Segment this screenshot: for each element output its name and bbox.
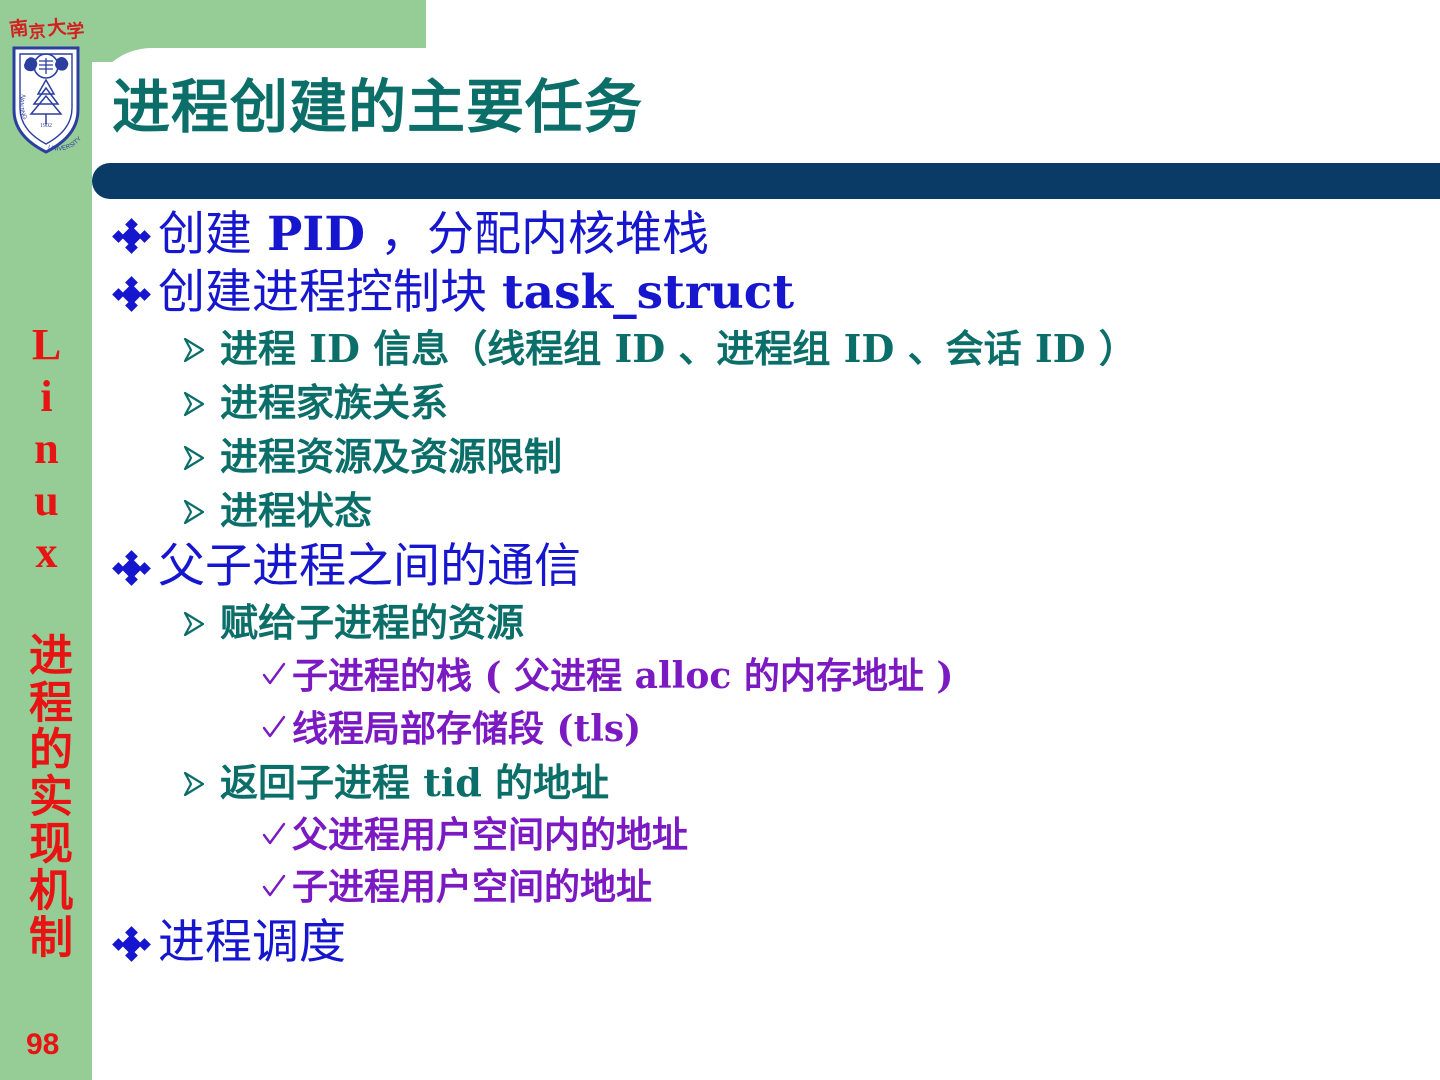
diamond-bullet-marker: [112, 914, 158, 972]
bullet-item-level-1: 父子进程之间的通信: [100, 538, 1430, 596]
bullet-item-level-3: 子进程用户空间的地址: [100, 862, 1430, 914]
arrow-bullet-marker: [180, 376, 220, 430]
diamond-cluster-icon: [114, 220, 148, 252]
diamond-cluster-icon: [114, 928, 148, 960]
diamond-bullet-marker: [112, 538, 158, 596]
page-number: 98: [26, 1028, 59, 1062]
bullet-item-level-2: 返回子进程 tid 的地址: [100, 756, 1430, 810]
diamond-bullet-marker: [112, 206, 158, 264]
slide-canvas: 南 京 大 学 1902 NANJING: [0, 0, 1440, 1080]
navy-divider-bar: [92, 163, 1440, 199]
arrow-bullet-marker: [180, 430, 220, 484]
diamond-cluster-icon: [114, 552, 148, 584]
bullet-item-level-3: 子进程的栈 ( 父进程 alloc 的内存地址 ): [100, 650, 1430, 703]
svg-text:大: 大: [46, 15, 67, 40]
bullet-list: 创建 PID ，分配内核堆栈创建进程控制块 task_struct进程 ID 信…: [100, 206, 1430, 972]
bullet-item-level-3: 线程局部存储段 (tls): [100, 703, 1430, 756]
bullet-item-level-1: 创建进程控制块 task_struct: [100, 264, 1430, 322]
arrow-bullet-marker: [180, 596, 220, 650]
arrow-bullet-marker: [180, 484, 220, 538]
svg-text:南: 南: [8, 17, 29, 41]
bullet-item-level-3: 父进程用户空间内的地址: [100, 810, 1430, 862]
bullet-item-level-1: 创建 PID ，分配内核堆栈: [100, 206, 1430, 264]
bullet-text: 进程资源及资源限制: [220, 430, 562, 484]
bullet-item-level-2: 进程状态: [100, 484, 1430, 538]
bullet-text: 进程调度: [158, 914, 346, 972]
arrow-bullet-marker: [180, 322, 220, 376]
bullet-item-level-2: 进程资源及资源限制: [100, 430, 1430, 484]
check-bullet-marker: [260, 650, 292, 702]
bullet-text: 创建进程控制块 task_struct: [158, 264, 794, 322]
bullet-text: 进程状态: [220, 484, 372, 538]
diamond-cluster-icon: [114, 278, 148, 310]
svg-text:学: 学: [66, 19, 86, 41]
check-bullet-marker: [260, 862, 292, 914]
bullet-text: 进程 ID 信息（线程组 ID 、进程组 ID 、会话 ID ）: [220, 322, 1137, 376]
check-bullet-marker: [260, 703, 292, 755]
bullet-item-level-2: 进程家族关系: [100, 376, 1430, 430]
bullet-text: 子进程用户空间的地址: [292, 862, 652, 914]
svg-text:京: 京: [28, 21, 46, 42]
bullet-text: 进程家族关系: [220, 376, 448, 430]
bullet-text: 线程局部存储段 (tls): [292, 703, 641, 756]
diamond-bullet-marker: [112, 264, 158, 322]
arrow-bullet-marker: [180, 756, 220, 810]
bullet-item-level-2: 进程 ID 信息（线程组 ID 、进程组 ID 、会话 ID ）: [100, 322, 1430, 376]
check-bullet-marker: [260, 810, 292, 862]
bullet-text: 父子进程之间的通信: [158, 538, 581, 596]
bullet-item-level-2: 赋给子进程的资源: [100, 596, 1430, 650]
bullet-text: 子进程的栈 ( 父进程 alloc 的内存地址 ): [292, 650, 953, 703]
bullet-text: 赋给子进程的资源: [220, 596, 524, 650]
svg-text:1902: 1902: [40, 123, 52, 129]
bullet-text: 父进程用户空间内的地址: [292, 810, 688, 862]
page-title: 进程创建的主要任务: [112, 78, 643, 136]
bullet-item-level-1: 进程调度: [100, 914, 1430, 972]
nanjing-university-logo: 南 京 大 学 1902 NANJING: [2, 2, 90, 162]
bullet-text: 返回子进程 tid 的地址: [220, 756, 609, 810]
bullet-text: 创建 PID ，分配内核堆栈: [158, 206, 709, 264]
